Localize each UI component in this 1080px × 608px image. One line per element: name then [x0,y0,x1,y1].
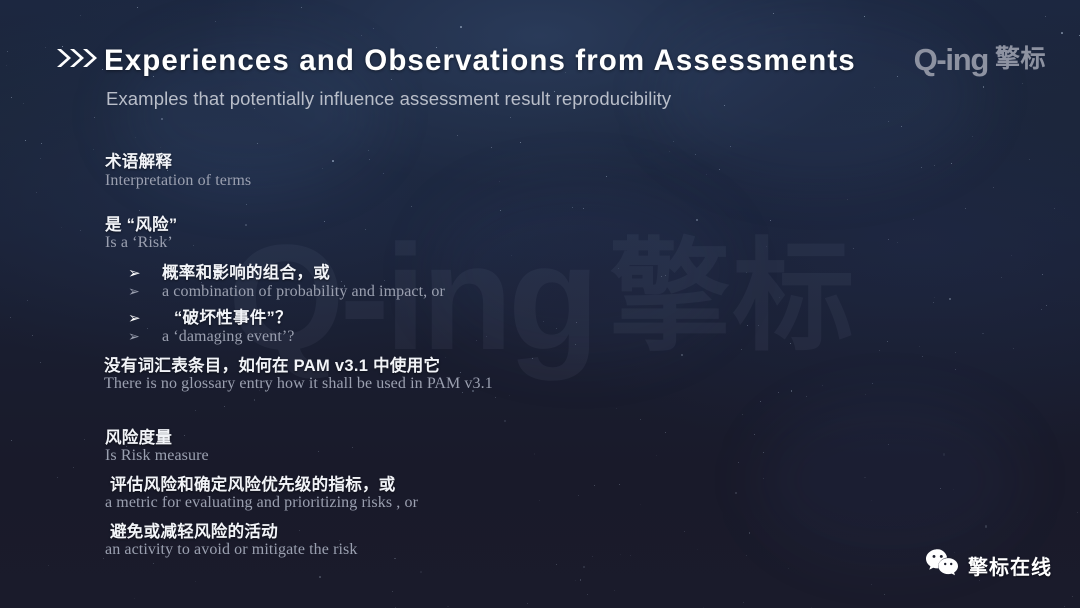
arrow-bullet-icon: ➢ [128,266,150,281]
wechat-label: 擎标在线 [968,551,1052,580]
glossary-note-en: There is no glossary entry how it shall … [104,375,493,393]
list-item-label-en: a ‘damaging event’? [162,328,295,346]
glossary-note-cn: 没有词汇表条目，如何在 PAM v3.1 中使用它 [104,352,440,376]
list-item: ➢ a combination of probability and impac… [128,283,445,301]
slide-body: 术语解释 Interpretation of terms 是 “风险” Is a… [0,0,1080,608]
list-item: ➢ “破坏性事件”？ [128,304,292,328]
section-risk-heading-en: Is a ‘Risk’ [105,234,173,252]
list-item: ➢ a ‘damaging event’? [128,328,295,346]
arrow-bullet-icon: ➢ [128,311,150,326]
risk-measure-line-1-en: a metric for evaluating and prioritizing… [105,494,418,512]
arrow-bullet-icon: ➢ [128,330,150,344]
section-risk-heading-cn: 是 “风险” [105,211,177,235]
wechat-icon [925,548,959,582]
section-terms-heading-en: Interpretation of terms [105,172,251,190]
risk-measure-line-2-cn: 避免或减轻风险的活动 [110,518,278,542]
risk-measure-line-1-cn: 评估风险和确定风险优先级的指标，或 [110,471,396,495]
arrow-bullet-icon: ➢ [128,285,150,299]
risk-measure-line-2-en: an activity to avoid or mitigate the ris… [105,541,357,559]
section-risk-measure-heading-cn: 风险度量 [105,424,172,448]
section-terms-heading-cn: 术语解释 [105,148,172,172]
list-item: ➢ 概率和影响的组合，或 [128,259,330,283]
list-item-label-cn: “破坏性事件”？ [174,304,292,328]
wechat-badge[interactable]: 擎标在线 [925,548,1052,582]
slide: Q-ing 擎标 Experiences and Observations fr… [0,0,1080,608]
list-item-label-cn: 概率和影响的组合，或 [162,259,330,283]
section-risk-measure-heading-en: Is Risk measure [105,447,209,465]
list-item-label-en: a combination of probability and impact,… [162,283,445,301]
